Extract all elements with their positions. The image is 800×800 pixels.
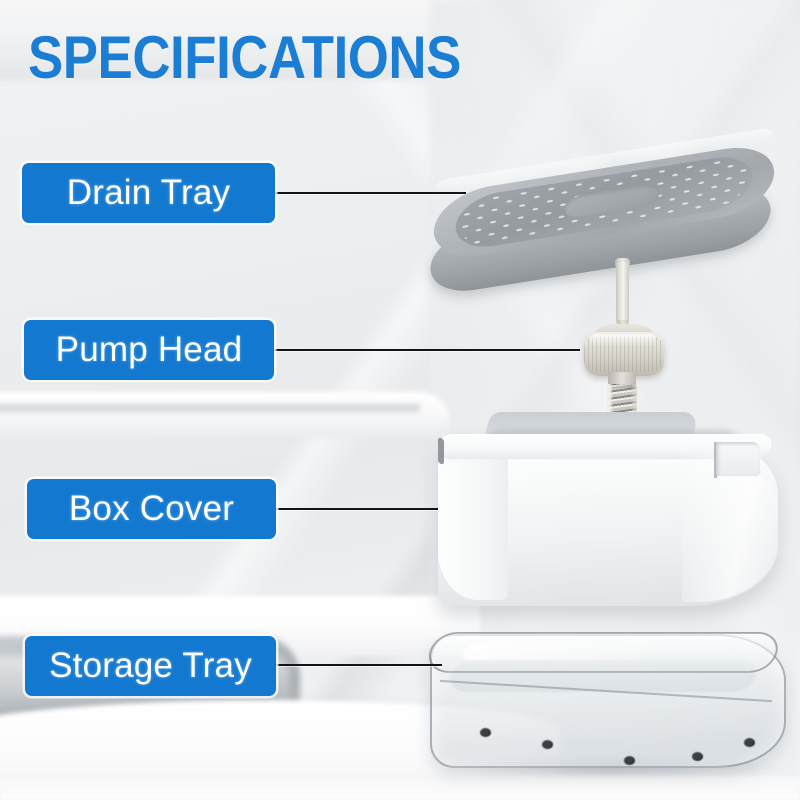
callout-label-storage-tray[interactable]: Storage Tray <box>25 636 276 696</box>
leader-line-box-cover <box>274 508 438 510</box>
background-counter-edge-shadow <box>0 404 420 412</box>
box-cover-notch <box>716 442 760 476</box>
storage-tray-foot <box>624 756 635 765</box>
drain-tray-icon <box>424 108 790 280</box>
storage-tray-icon <box>424 616 792 786</box>
callout-label-box-cover[interactable]: Box Cover <box>27 479 276 539</box>
storage-tray-foot <box>542 740 553 749</box>
callout-label-drain-tray[interactable]: Drain Tray <box>22 163 275 223</box>
leader-line-pump-head <box>272 349 580 351</box>
storage-tray-foot <box>744 738 755 747</box>
callout-label-text: Pump Head <box>56 330 243 370</box>
callout-label-text: Box Cover <box>69 489 234 529</box>
pump-nozzle <box>616 262 629 324</box>
background-counter-edge <box>0 392 450 438</box>
storage-tray-foot <box>692 752 703 761</box>
callout-label-text: Drain Tray <box>67 173 230 213</box>
box-cover-icon <box>432 412 784 612</box>
box-cover-left-face <box>438 440 508 600</box>
leader-line-drain-tray <box>272 192 466 194</box>
callout-label-pump-head[interactable]: Pump Head <box>24 320 274 380</box>
leader-line-storage-tray <box>274 664 442 666</box>
pump-cap-highlight <box>590 334 656 346</box>
storage-tray-sheen <box>461 642 667 660</box>
specifications-infographic: SPECIFICATIONS <box>0 0 800 800</box>
callout-label-text: Storage Tray <box>49 646 252 686</box>
page-title: SPECIFICATIONS <box>28 28 461 88</box>
storage-tray-foot <box>480 728 491 737</box>
box-cover-left-edge <box>438 437 444 465</box>
